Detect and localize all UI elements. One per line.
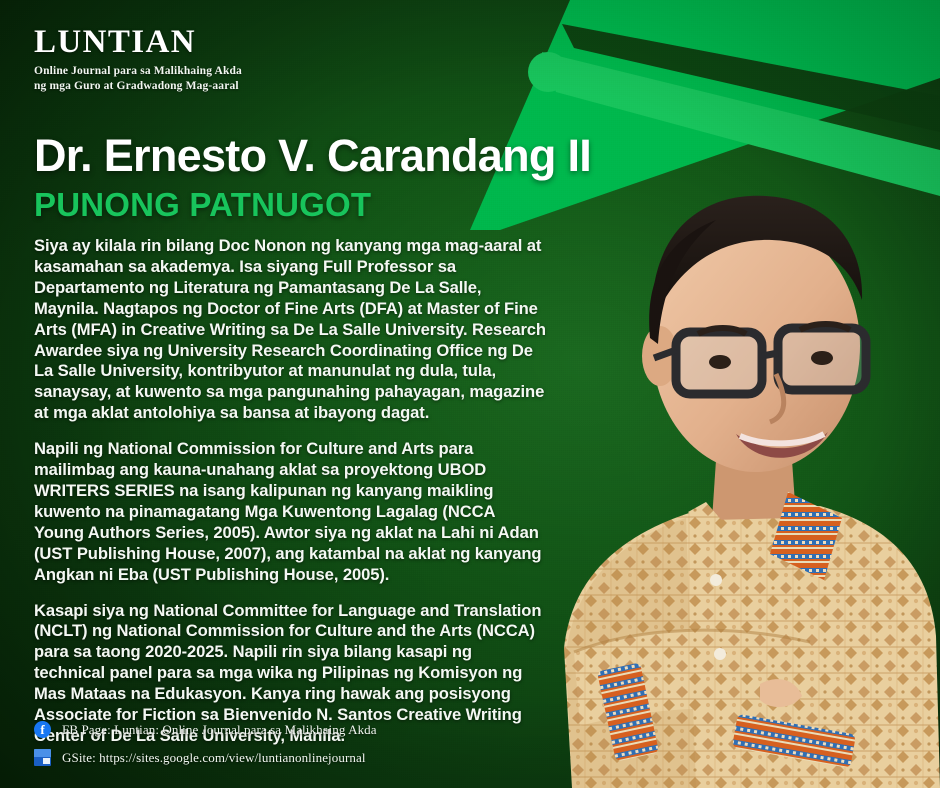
bio-paragraph-1: Siya ay kilala rin bilang Doc Nonon ng k… [34,236,546,424]
brand-wordmark: LUNTIAN [34,26,242,59]
biography-body: Siya ay kilala rin bilang Doc Nonon ng k… [34,236,546,747]
page-title: Dr. Ernesto V. Carandang II [34,133,591,179]
bio-paragraph-2: Napili ng National Commission for Cultur… [34,439,546,585]
brand-tagline: Online Journal para sa Malikhaing Akdang… [34,64,242,93]
google-sites-icon [34,749,51,766]
brand-logo-block: LUNTIAN Online Journal para sa Malikhain… [34,26,242,93]
facebook-link-label: FB Page: Luntian: Online Journal para sa… [62,722,377,738]
poster-canvas: LUNTIAN Online Journal para sa Malikhain… [0,0,940,788]
gsite-link-label: GSite: https://sites.google.com/view/lun… [62,750,366,766]
facebook-icon: f [34,721,51,738]
facebook-link-row[interactable]: f FB Page: Luntian: Online Journal para … [34,721,377,738]
role-subtitle: PUNONG PATNUGOT [34,188,371,223]
portrait-photo [520,88,940,788]
footer-links: f FB Page: Luntian: Online Journal para … [34,721,377,766]
gsite-link-row[interactable]: GSite: https://sites.google.com/view/lun… [34,749,377,766]
